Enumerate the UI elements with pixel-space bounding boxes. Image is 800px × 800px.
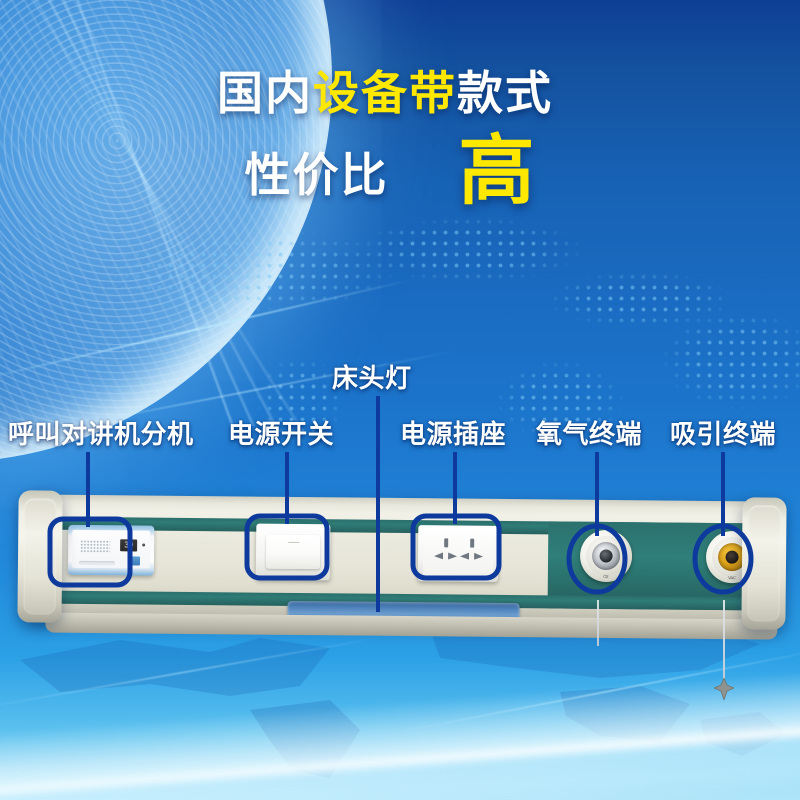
nurse-call-intercom-module[interactable]: 39 [68, 525, 154, 576]
power-socket-module[interactable] [418, 525, 499, 582]
oxygen-core [592, 542, 620, 570]
intercom-faceplate: 39 [72, 530, 150, 569]
intercom-led-indicator [142, 544, 145, 547]
socket-pin-left-icon [460, 553, 469, 560]
callout-label-oxygen: 氧气终端 [536, 414, 642, 451]
socket-pin-right-icon [448, 552, 457, 559]
end-cap-right-inner [747, 505, 780, 621]
panel-end-cap-right [741, 497, 786, 629]
socket-pin-top-icon [470, 539, 474, 548]
callout-label-power-socket: 电源插座 [400, 414, 506, 451]
rocker-switch[interactable] [266, 535, 320, 570]
suction-port-hole [725, 551, 738, 564]
speaker-grille-icon [80, 540, 110, 553]
oxygen-terminal-module[interactable]: O2 [580, 530, 632, 582]
socket-outlet-left[interactable] [433, 537, 459, 567]
intercom-display: 39 [120, 539, 137, 551]
callout-label-suction: 吸引终端 [670, 414, 776, 451]
suction-pull-cord[interactable] [723, 600, 725, 688]
panel-front-lip [45, 613, 777, 640]
socket-faceplate [423, 531, 493, 576]
panel-end-cap-left [17, 490, 62, 622]
power-switch-module[interactable] [256, 524, 331, 581]
pull-cord-handle-icon[interactable] [714, 678, 734, 700]
bed-head-unit: 39 [18, 492, 786, 642]
panel-assembly: 39 [17, 488, 786, 635]
callout-label-intercom: 呼叫对讲机分机 [8, 414, 194, 451]
socket-pin-left-icon [434, 552, 443, 559]
socket-outlet-right[interactable] [459, 538, 485, 568]
rocker-notch-icon [288, 542, 299, 543]
callout-label-bed-lamp: 床头灯 [332, 358, 412, 395]
callout-label-power-switch: 电源开关 [228, 414, 334, 451]
panel-body: 39 [27, 494, 776, 625]
intercom-call-button[interactable] [128, 556, 140, 565]
end-cap-left-inner [23, 498, 56, 614]
oxygen-tag-label: O2 [603, 574, 608, 579]
socket-pin-right-icon [474, 553, 483, 560]
oxygen-port-hole [600, 549, 613, 562]
oxygen-pull-cord[interactable] [597, 600, 599, 646]
intercom-label-slot [79, 561, 115, 565]
suction-tag-label: VAC [728, 575, 735, 580]
promo-banner: 国内设备带款式 性价比 高 呼叫对讲机分机 电源开关 床头灯 电源插座 氧气终端… [0, 0, 800, 800]
socket-pin-top-icon [444, 538, 448, 547]
